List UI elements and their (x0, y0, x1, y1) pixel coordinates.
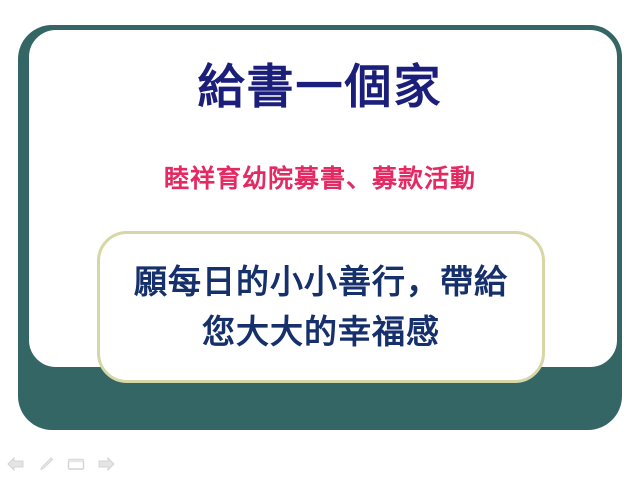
nav-screen-button[interactable] (66, 455, 86, 473)
message-line-1: 願每日的小小善行，帶給 (134, 257, 508, 307)
nav-next-button[interactable] (96, 455, 116, 473)
slide-stage: 給書一個家 睦祥育幼院募書、募款活動 願每日的小小善行，帶給 您大大的幸福感 (0, 0, 640, 480)
pen-icon (38, 456, 54, 472)
arrow-left-icon (7, 457, 25, 471)
nav-previous-button[interactable] (6, 455, 26, 473)
nav-pen-button[interactable] (36, 455, 56, 473)
slide-subtitle: 睦祥育幼院募書、募款活動 (40, 162, 600, 196)
message-box: 願每日的小小善行，帶給 您大大的幸福感 (97, 231, 545, 383)
screen-icon (67, 457, 85, 471)
arrow-right-icon (97, 457, 115, 471)
message-line-2: 您大大的幸福感 (202, 307, 440, 357)
page-title: 給書一個家 (40, 58, 600, 118)
nav-toolbar (6, 455, 116, 473)
